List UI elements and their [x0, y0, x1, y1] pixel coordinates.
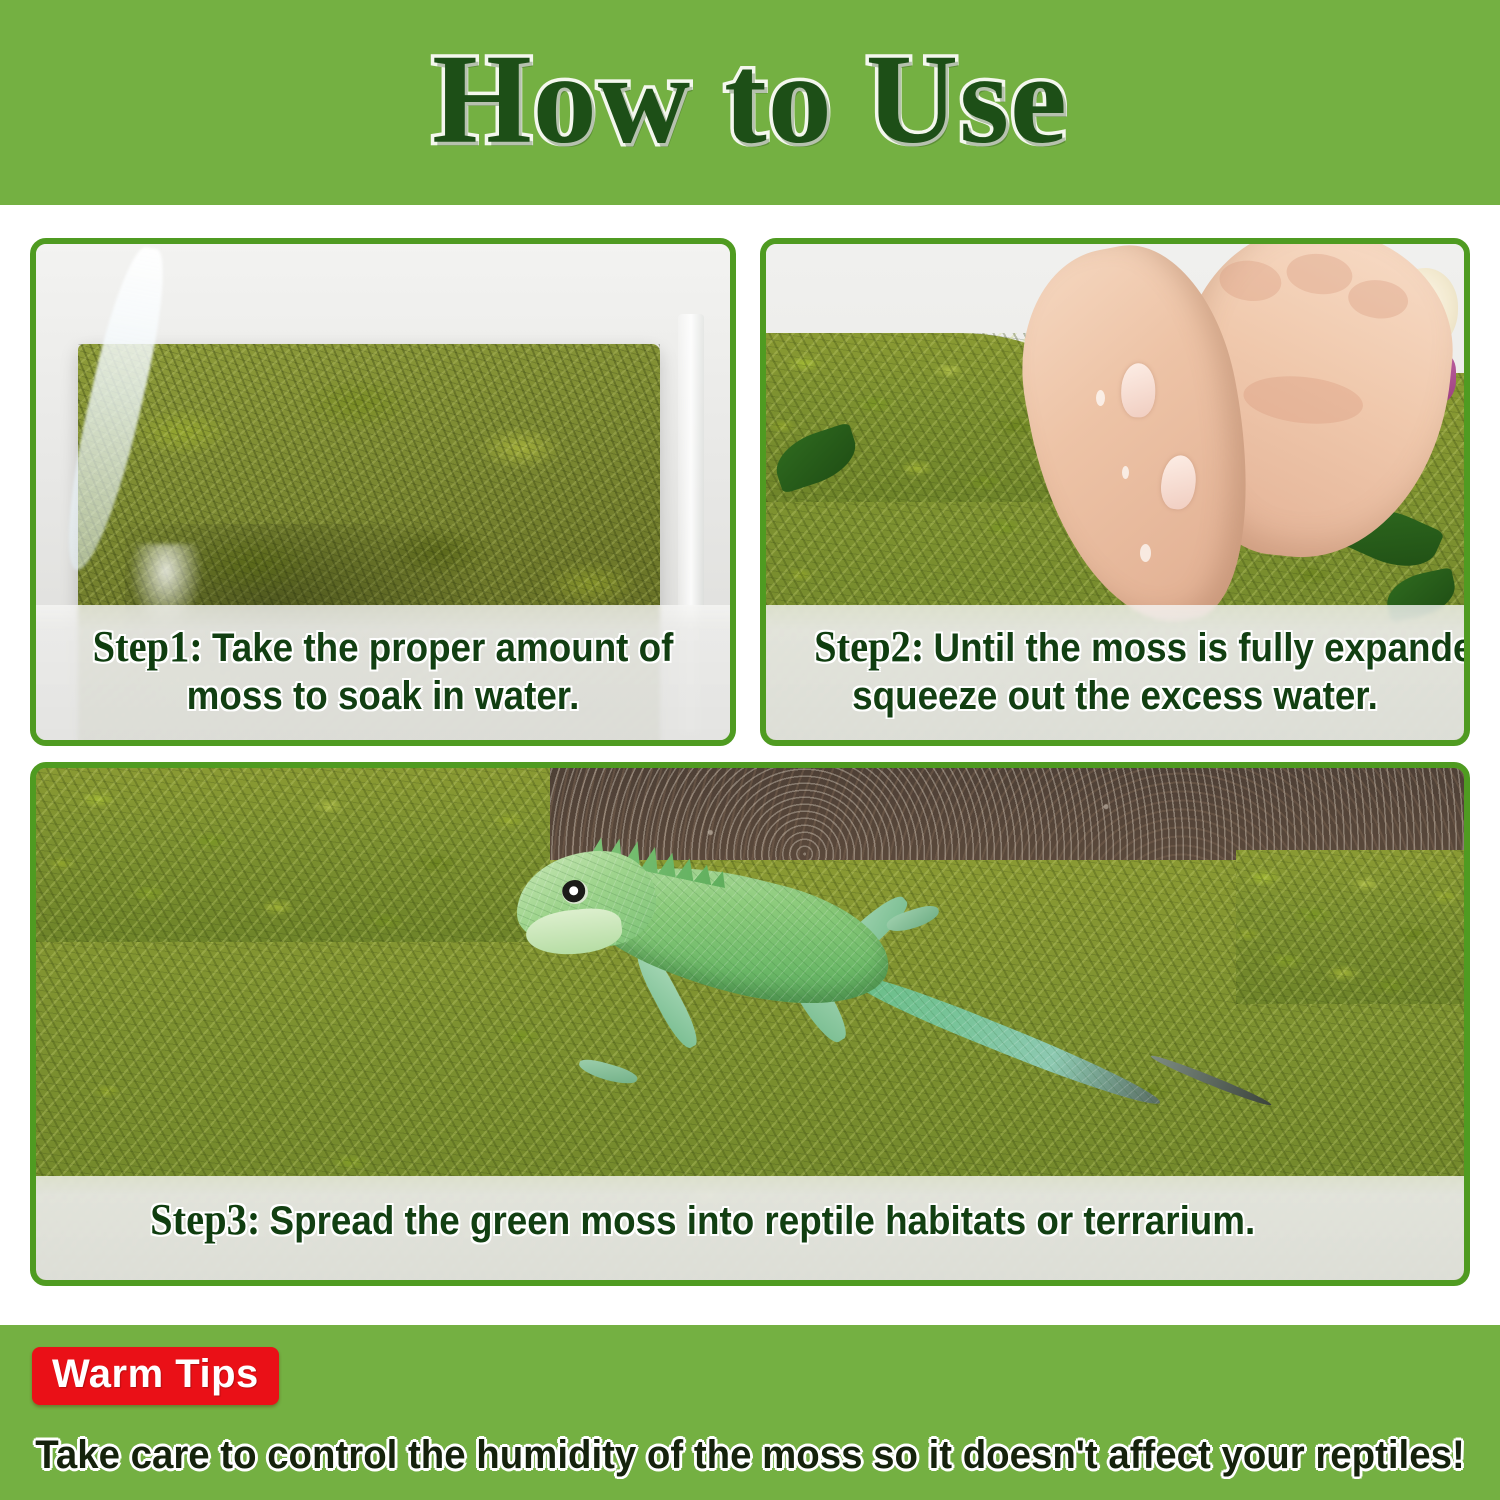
step-1-label: Step1: [93, 621, 203, 673]
footer-band: Warm Tips Take care to control the humid… [0, 1325, 1500, 1500]
step-1-caption-line-2: moss to soak in water. [84, 673, 682, 720]
water-drip-3 [1140, 544, 1151, 562]
lizard-eye [562, 880, 588, 904]
moss-patch-right [1236, 850, 1464, 1004]
lizard [486, 818, 1186, 1178]
step-2-caption-line-1: Step2:Until the moss is fully expanded, [814, 621, 1416, 673]
header-band: How to Use [0, 0, 1500, 205]
step-1-caption: Step1:Take the proper amount of moss to … [36, 605, 730, 740]
warm-tips-badge: Warm Tips [32, 1347, 279, 1405]
moss-patch-top-left [36, 768, 550, 942]
knuckle-2 [1285, 251, 1355, 298]
step-1-caption-line-1: Step1:Take the proper amount of [84, 621, 682, 673]
step-3-text-1: Spread the green moss into reptile habit… [270, 1199, 1256, 1243]
step-3-label: Step3: [150, 1194, 260, 1246]
step-2-text-1: Until the moss is fully expanded, [934, 626, 1470, 670]
lizard-front-foot [577, 1056, 639, 1088]
palm-crease [1241, 371, 1365, 429]
step-2-label: Step2: [814, 621, 924, 673]
step-3-caption: Step3:Spread the green moss into reptile… [36, 1176, 1464, 1280]
moss-speckle-right [1236, 850, 1464, 1004]
step-2-caption-line-2: squeeze out the excess water. [814, 673, 1416, 720]
water-drip-1 [1096, 390, 1105, 406]
step-2-caption: Step2:Until the moss is fully expanded, … [766, 605, 1464, 740]
how-to-use-infographic: How to Use Step1:Take the proper amount … [0, 0, 1500, 1500]
fingernail-1 [1121, 363, 1156, 418]
warm-tips-text: Take care to control the humidity of the… [30, 1433, 1470, 1478]
knuckle-3 [1346, 277, 1410, 321]
lizard-tail [849, 967, 1165, 1115]
knuckle-1 [1217, 258, 1283, 304]
step-card-1: Step1:Take the proper amount of moss to … [30, 238, 736, 746]
tail-scales [849, 967, 1165, 1115]
water-drip-2 [1122, 466, 1129, 479]
step-1-text-1: Take the proper amount of [212, 626, 673, 670]
moss-speckle-top [36, 768, 550, 942]
page-title: How to Use [432, 35, 1068, 163]
fingernail-2 [1158, 453, 1198, 511]
step-card-3: Step3:Spread the green moss into reptile… [30, 762, 1470, 1286]
step-card-2: Step2:Until the moss is fully expanded, … [760, 238, 1470, 746]
warm-tips-label: Warm Tips [52, 1353, 259, 1395]
step-3-caption-line-1: Step3:Spread the green moss into reptile… [113, 1194, 1386, 1246]
